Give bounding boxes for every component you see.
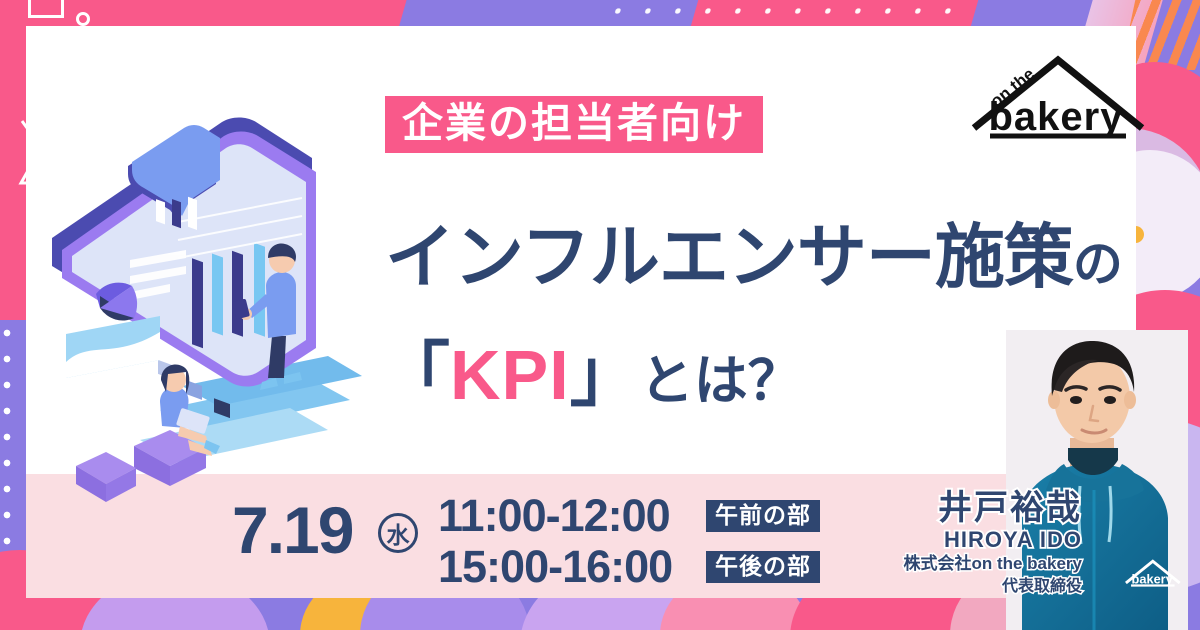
title-line-1-main: インフルエンサー施策 bbox=[385, 218, 1073, 296]
dashboard-illustration bbox=[10, 110, 380, 510]
session-label: 午後の部 bbox=[706, 551, 820, 583]
title-line-2-tail: とは？ bbox=[640, 351, 802, 411]
logo-main-text: bakery bbox=[989, 95, 1124, 139]
session-label: 午前の部 bbox=[706, 500, 820, 532]
session-row: 15:00-16:00 午後の部 bbox=[438, 543, 820, 592]
title-kpi: KPI bbox=[450, 336, 570, 414]
title-line-1: インフルエンサー施策の bbox=[385, 222, 1122, 292]
speaker-name-ja: 井戸裕哉 bbox=[903, 490, 1082, 527]
session-row: 11:00-12:00 午前の部 bbox=[438, 492, 820, 541]
session-time: 15:00-16:00 bbox=[438, 543, 706, 592]
square-outline-icon bbox=[28, 0, 64, 18]
title-line-2: 「KPI」とは？ bbox=[380, 340, 802, 410]
audience-badge: 企業の担当者向け bbox=[385, 96, 763, 153]
speaker-name-romaji: HIROYA IDO bbox=[903, 527, 1082, 553]
event-day-of-week: 水 bbox=[378, 513, 418, 553]
session-time: 11:00-12:00 bbox=[438, 492, 706, 541]
circle-outline-icon bbox=[76, 12, 90, 26]
event-date: 7.19 bbox=[232, 497, 352, 563]
title-line-1-suffix: の bbox=[1073, 236, 1122, 292]
speaker-company: 株式会社on the bakery bbox=[903, 553, 1082, 576]
svg-text:bakery: bakery bbox=[1132, 572, 1174, 587]
title-quote-close: 」 bbox=[570, 336, 640, 414]
speaker-job-title: 代表取締役 bbox=[903, 576, 1082, 598]
brand-logo: on the bakery bbox=[968, 50, 1148, 160]
session-list: 11:00-12:00 午前の部 15:00-16:00 午後の部 bbox=[438, 492, 820, 593]
webinar-banner: on the bakery 企業の担当者向け インフルエンサー施策の 「KPI」… bbox=[0, 0, 1200, 630]
speaker-info: 井戸裕哉 HIROYA IDO 株式会社on the bakery 代表取締役 bbox=[903, 490, 1082, 598]
title-quote-open: 「 bbox=[380, 336, 450, 414]
